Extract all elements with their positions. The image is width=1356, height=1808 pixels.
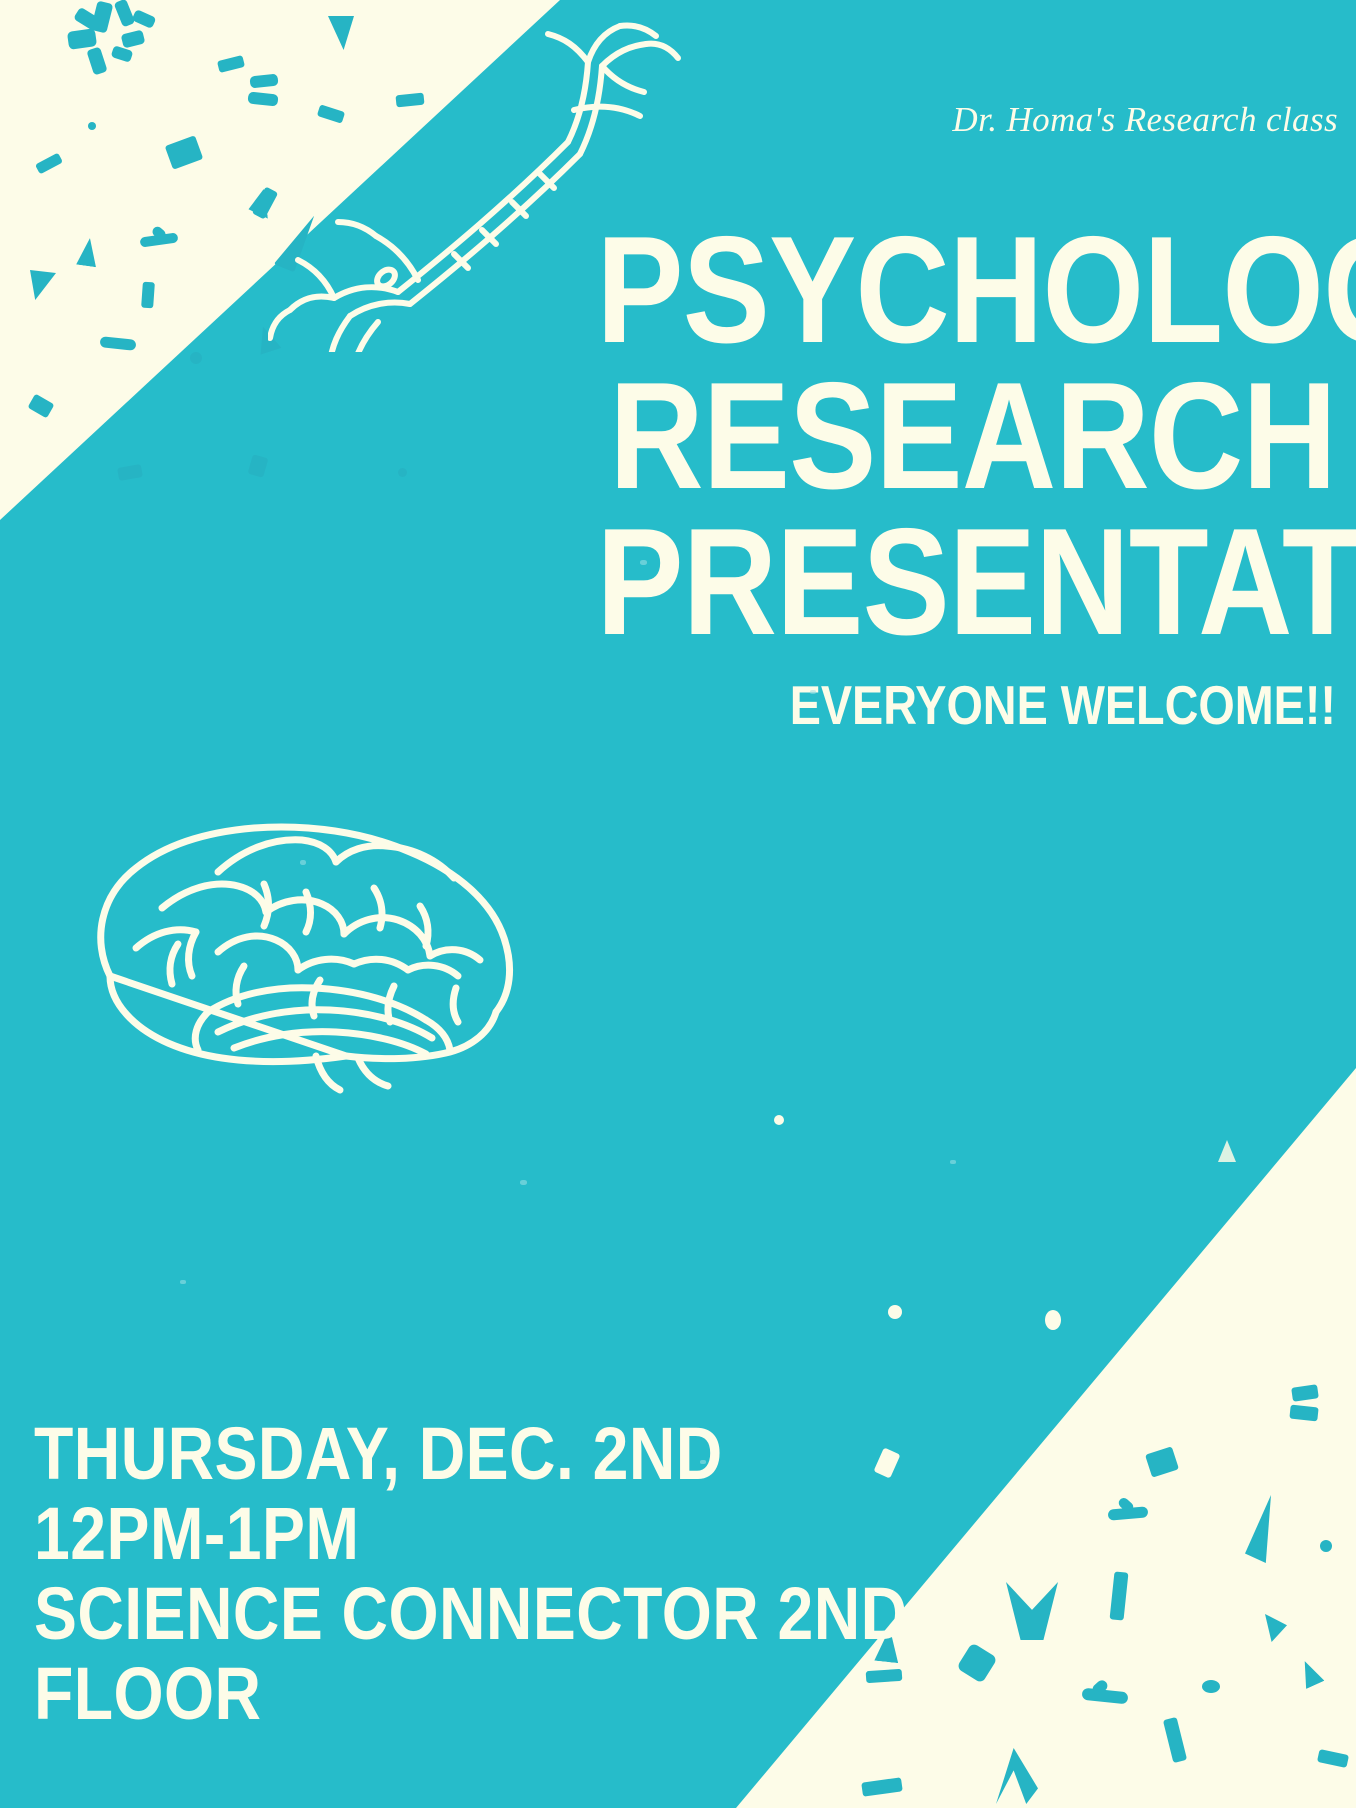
texture-speck [700, 1460, 706, 1464]
confetti-triangle [1218, 1140, 1236, 1162]
title-line-1: PSYCHOLOGY [596, 218, 1336, 364]
event-date: THURSDAY, DEC. 2ND [34, 1414, 908, 1494]
confetti-dot [1202, 1680, 1220, 1693]
texture-speck [520, 1180, 527, 1185]
event-time: 12PM-1PM [34, 1494, 908, 1574]
confetti-dot [398, 468, 407, 477]
confetti-dash [117, 464, 143, 481]
confetti-dash [1289, 1405, 1318, 1422]
title-block: PSYCHOLOGY RESEARCH PRESENTATIONS EVERYO… [476, 218, 1336, 733]
title-line-3: PRESENTATIONS [596, 510, 1336, 656]
event-location-line-1: SCIENCE CONNECTOR 2ND [34, 1574, 908, 1654]
class-label: Dr. Homa's Research class [952, 100, 1338, 140]
texture-speck [180, 1280, 186, 1284]
confetti-dot [1320, 1540, 1332, 1552]
title-line-2: RESEARCH [596, 364, 1336, 510]
confetti-dot [774, 1115, 784, 1125]
confetti-dot [888, 1305, 902, 1319]
confetti-dot [88, 122, 96, 130]
confetti-dash [248, 454, 269, 478]
poster-canvas: Dr. Homa's Research class PSYCHOLOGY RES… [0, 0, 1356, 1808]
event-details: THURSDAY, DEC. 2ND 12PM-1PM SCIENCE CONN… [34, 1414, 1038, 1734]
welcome-subtitle: EVERYONE WELCOME!! [605, 678, 1336, 733]
confetti-starburst-ray [67, 28, 97, 50]
texture-speck [950, 1160, 956, 1164]
confetti-dot [190, 352, 202, 364]
texture-speck [300, 860, 306, 865]
brain-illustration [58, 780, 558, 1100]
texture-speck [810, 690, 816, 694]
texture-speck [640, 560, 647, 565]
confetti-dot [1045, 1310, 1061, 1330]
event-location-line-2: FLOOR [34, 1654, 908, 1734]
confetti-rectangle [141, 282, 155, 309]
